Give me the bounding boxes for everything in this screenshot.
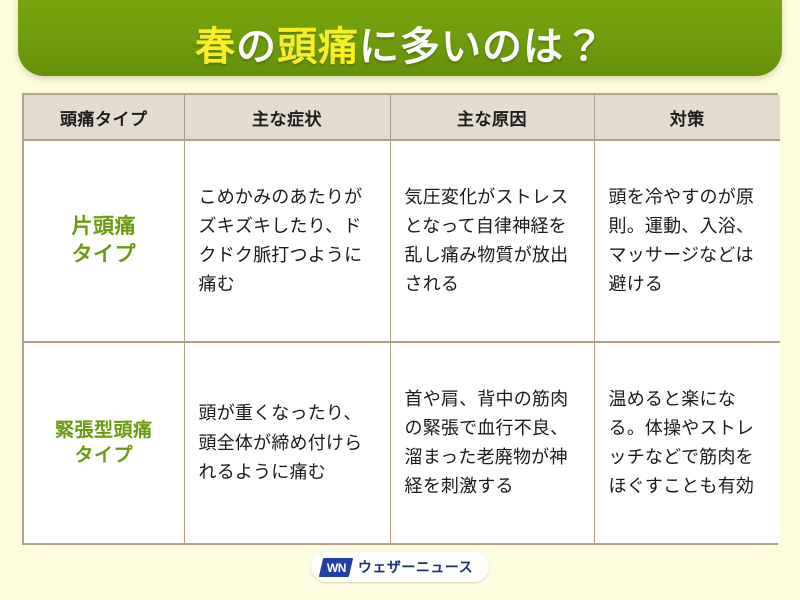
footer: WN ウェザーニュース <box>0 552 800 582</box>
type-label-line1: 片頭痛 <box>38 213 170 241</box>
table-row: 片頭痛 タイプ こめかみのあたりがズキズキしたり、ドクドク脈打つように痛む 気圧… <box>24 140 780 342</box>
cell-type-tension: 緊張型頭痛 タイプ <box>24 342 184 543</box>
type-label-line2: タイプ <box>38 443 170 468</box>
page-title: 春の頭痛に多いのは？ <box>195 26 605 68</box>
title-banner-inner: 春の頭痛に多いのは？ <box>18 0 782 76</box>
cell-type-migraine: 片頭痛 タイプ <box>24 140 184 342</box>
wn-logo-text: WN <box>326 560 345 574</box>
cell-symptom-migraine: こめかみのあたりがズキズキしたり、ドクドク脈打つように痛む <box>184 140 390 342</box>
headache-comparison-table: 頭痛タイプ 主な症状 主な原因 対策 片頭痛 タイプ こめかみのあたりがズキズキ… <box>22 93 778 545</box>
table-header-row: 頭痛タイプ 主な症状 主な原因 対策 <box>24 95 780 140</box>
page-title-part-2: の <box>236 25 277 69</box>
page-title-part-3: 頭痛 <box>277 25 359 69</box>
column-header-measure: 対策 <box>594 95 780 140</box>
cell-measure-migraine: 頭を冷やすのが原則。運動、入浴、マッサージなどは避ける <box>594 140 780 342</box>
cell-measure-tension: 温めると楽になる。体操やストレッチなどで筋肉をほぐすことも有効 <box>594 342 780 543</box>
cell-cause-migraine: 気圧変化がストレスとなって自律神経を乱し痛み物質が放出される <box>390 140 594 342</box>
cell-cause-tension: 首や肩、背中の筋肉の緊張で血行不良、溜まった老廃物が神経を刺激する <box>390 342 594 543</box>
column-header-symptom: 主な症状 <box>184 95 390 140</box>
column-header-cause: 主な原因 <box>390 95 594 140</box>
type-label-line2: タイプ <box>38 241 170 269</box>
title-banner: 春の頭痛に多いのは？ <box>18 0 782 76</box>
column-header-type: 頭痛タイプ <box>24 95 184 140</box>
weathernews-logo: WN ウェザーニュース <box>311 552 489 582</box>
table-row: 緊張型頭痛 タイプ 頭が重くなったり、頭全体が締め付けられるように痛む 首や肩、… <box>24 342 780 543</box>
type-label-line1: 緊張型頭痛 <box>38 418 170 443</box>
page-title-part-1: 春 <box>195 25 236 69</box>
wn-logo-icon: WN <box>319 558 353 577</box>
cell-symptom-tension: 頭が重くなったり、頭全体が締め付けられるように痛む <box>184 342 390 543</box>
page-title-part-4: に多いのは？ <box>359 25 605 69</box>
brand-name: ウェザーニュース <box>358 557 473 577</box>
